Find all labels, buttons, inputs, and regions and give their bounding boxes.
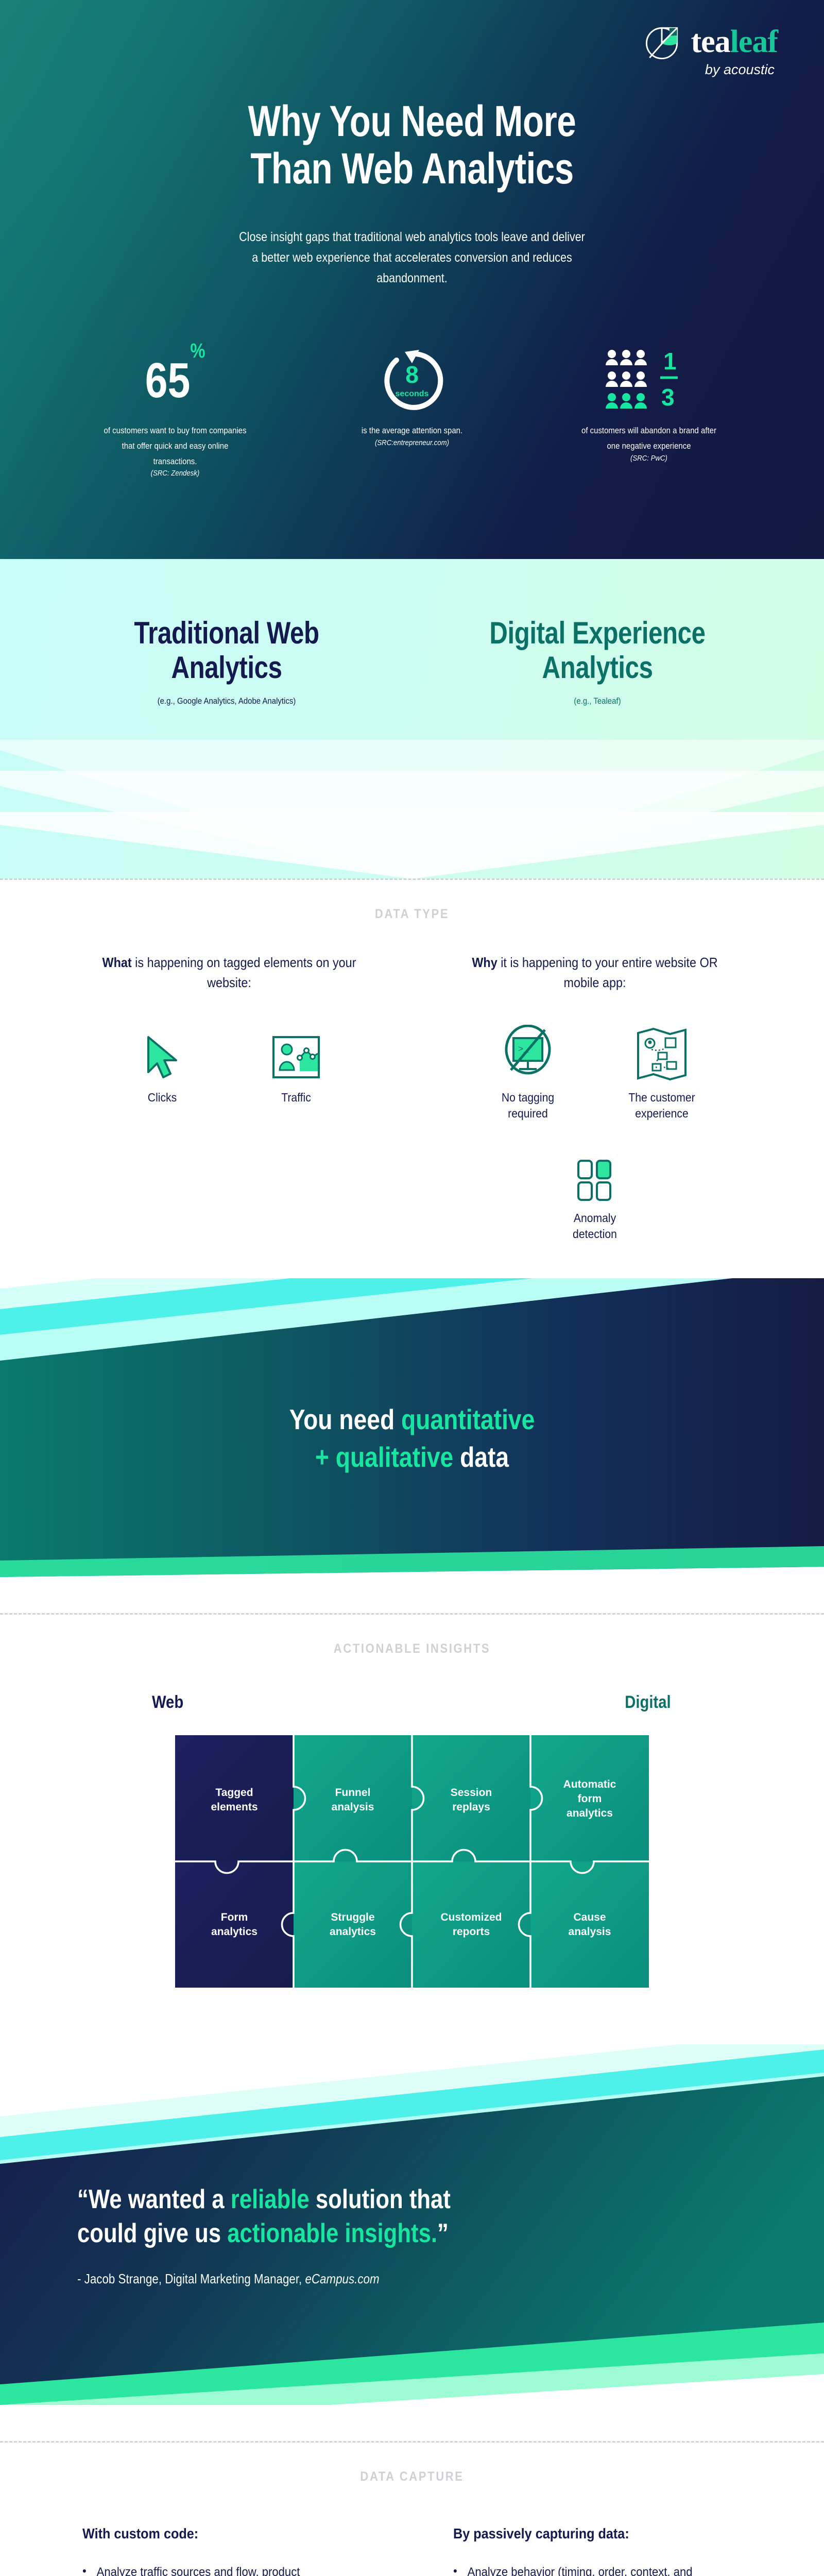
data-type-item-label: No tagging required	[488, 1090, 568, 1122]
stat-caption: of customers will abandon a brand after …	[574, 423, 724, 454]
comparison-section: Traditional Web Analytics (e.g., Google …	[0, 559, 824, 878]
stat-source: (SRC:entrepreneur.com)	[337, 438, 487, 447]
quote-part-c: could give us	[77, 2218, 227, 2248]
data-type-why-bold: Why	[472, 955, 497, 970]
puzzle-piece-label: Session	[451, 1787, 492, 1799]
data-type-item: Anomaly detection	[551, 1145, 639, 1242]
stat-unit: %	[190, 340, 205, 362]
puzzle-piece-label: Funnel	[335, 1787, 371, 1799]
quant-line-2: + qualitative data	[66, 1438, 758, 1476]
quote-part-b: solution that	[310, 2184, 451, 2214]
data-type-item: Traffic	[252, 1025, 340, 1106]
digital-title: Digital Experience Analytics	[479, 616, 715, 685]
logo-tagline: by acoustic	[705, 62, 775, 78]
puzzle-piece-label: Struggle	[331, 1911, 374, 1923]
stat-value: 65	[145, 353, 191, 408]
insights-digital-label: Digital	[625, 1692, 671, 1713]
data-type-item: >_ No tagging required	[484, 1025, 572, 1122]
insights-label: ACTIONABLE INSIGHTS	[49, 1615, 775, 1656]
data-capture-column-passive: By passively capturing data: Analyze beh…	[453, 2526, 742, 2576]
hero-title-line-1: Why You Need More	[82, 98, 742, 145]
data-capture-left-heading: With custom code:	[82, 2526, 342, 2542]
data-capture-section: DATA CAPTURE With custom code: Analyze t…	[0, 2405, 824, 2576]
stat-source: (SRC: PwC)	[574, 454, 724, 463]
page-title: Why You Need More Than Web Analytics	[82, 98, 742, 192]
hero-subtitle: Close insight gaps that traditional web …	[235, 227, 589, 289]
quote-part-a: “We wanted a	[77, 2184, 231, 2214]
anomaly-grid-icon	[576, 1159, 613, 1202]
percentage-stat-icon: 65%	[90, 343, 260, 419]
customer-journey-map-icon	[636, 1028, 688, 1081]
tealeaf-logo[interactable]: tealeaf by acoustic	[644, 23, 778, 78]
stat-card: 1 3 of customers will abandon a brand af…	[564, 343, 734, 463]
data-type-what-bold: What	[102, 955, 131, 970]
quote-accent-2: actionable insights.	[227, 2218, 437, 2248]
svg-text:1: 1	[663, 348, 677, 375]
quant-accent-1: quantitative	[401, 1403, 535, 1435]
svg-text:analysis: analysis	[332, 1801, 374, 1813]
testimonial-band: “We wanted a reliable solution that coul…	[0, 2044, 824, 2405]
quote-attr-italic: eCampus.com	[305, 2271, 379, 2286]
quote-part-d: ”	[437, 2218, 449, 2248]
logo-word-tea: tea	[691, 24, 730, 59]
quant-accent-2: + qualitative	[315, 1441, 453, 1473]
data-type-why-heading: Why it is happening to your entire websi…	[456, 953, 734, 993]
hero-stats: 65% of customers want to buy from compan…	[0, 343, 824, 478]
svg-text:replays: replays	[452, 1801, 490, 1813]
svg-text:reports: reports	[453, 1926, 490, 1938]
insights-puzzle: Tagged elements Funnel analysis Session …	[0, 1713, 824, 1988]
puzzle-piece-label: Customized	[440, 1911, 502, 1923]
stat-source: (SRC: Zendesk)	[100, 469, 250, 478]
traditional-title: Traditional Web Analytics	[108, 616, 345, 685]
quote-accent-1: reliable	[231, 2184, 310, 2214]
puzzle-piece-label: Form	[221, 1911, 248, 1923]
list-item: Analyze traffic sources and flow, produc…	[82, 2564, 348, 2576]
quote-attr-plain: - Jacob Strange, Digital Marketing Manag…	[77, 2271, 305, 2286]
stat-card: 8 seconds is the average attention span.…	[327, 343, 497, 447]
data-type-section: DATA TYPE What is happening on tagged el…	[0, 878, 824, 1278]
data-type-item-label: Traffic	[256, 1090, 336, 1106]
data-capture-right-heading: By passively capturing data:	[453, 2526, 713, 2542]
quant-line-1: You need quantitative	[66, 1401, 758, 1438]
quote-attribution: - Jacob Strange, Digital Marketing Manag…	[77, 2271, 653, 2287]
puzzle-piece-label: Tagged	[215, 1787, 253, 1799]
no-tagging-icon: >_	[500, 1025, 556, 1081]
infographic-page: tealeaf by acoustic Why You Need More Th…	[0, 0, 824, 2576]
svg-text:analytics: analytics	[211, 1926, 257, 1938]
tealeaf-wordmark: tealeaf	[691, 26, 778, 58]
data-type-label: DATA TYPE	[49, 880, 775, 922]
stat-caption: is the average attention span.	[337, 423, 487, 438]
data-type-item-label: Anomaly detection	[555, 1210, 635, 1242]
clock-arrow-icon: 8 seconds	[376, 345, 448, 417]
digital-examples: (e.g., Tealeaf)	[471, 696, 725, 706]
data-type-what-heading: What is happening on tagged elements on …	[90, 953, 368, 993]
svg-text:analytics: analytics	[330, 1926, 376, 1938]
comparison-column-digital: Digital Experience Analytics (e.g., Teal…	[453, 616, 742, 706]
traffic-chart-icon	[271, 1034, 321, 1081]
insights-web-label: Web	[152, 1692, 183, 1713]
comparison-column-traditional: Traditional Web Analytics (e.g., Google …	[82, 616, 371, 706]
quantitative-qualitative-band: You need quantitative + qualitative data	[0, 1278, 824, 1577]
data-type-what-rest: is happening on tagged elements on your …	[132, 955, 356, 990]
people-ratio-icon: 1 3	[603, 348, 695, 414]
testimonial-text: “We wanted a reliable solution that coul…	[0, 2044, 824, 2287]
hero-section: tealeaf by acoustic Why You Need More Th…	[0, 0, 824, 559]
traditional-examples: (e.g., Google Analytics, Adobe Analytics…	[100, 696, 354, 706]
quant-plain-2: data	[453, 1441, 509, 1473]
data-type-column-what: What is happening on tagged elements on …	[75, 953, 384, 1242]
actionable-insights-section: ACTIONABLE INSIGHTS Web Digital	[0, 1577, 824, 2044]
stat-card: 65% of customers want to buy from compan…	[90, 343, 260, 478]
quote-line-1: “We wanted a reliable solution that	[77, 2182, 640, 2216]
data-type-item-label: The customer experience	[622, 1090, 702, 1122]
puzzle-grid: Tagged elements Funnel analysis Session …	[175, 1735, 649, 1988]
puzzle-piece-label: Cause	[573, 1911, 606, 1923]
tealeaf-leaf-icon	[644, 23, 682, 61]
svg-text:seconds: seconds	[396, 389, 429, 398]
svg-text:elements: elements	[211, 1801, 257, 1813]
data-capture-label: DATA CAPTURE	[49, 2443, 775, 2484]
data-type-item-label: Clicks	[122, 1090, 202, 1106]
svg-text:form: form	[578, 1793, 602, 1805]
svg-text:analysis: analysis	[569, 1926, 611, 1938]
stat-caption: of customers want to buy from companies …	[100, 423, 250, 469]
list-item: Analyze behavior (timing, order, context…	[453, 2564, 718, 2576]
svg-text:3: 3	[661, 384, 675, 411]
data-type-item: Clicks	[118, 1025, 206, 1106]
quote-line-2: could give us actionable insights.”	[77, 2216, 640, 2250]
puzzle-piece-label: Automatic	[563, 1778, 616, 1790]
svg-text:analytics: analytics	[566, 1807, 613, 1819]
cursor-arrow-icon	[141, 1034, 183, 1081]
logo-word-leaf: leaf	[730, 24, 778, 59]
data-type-column-why: Why it is happening to your entire websi…	[440, 953, 749, 1242]
data-capture-column-custom-code: With custom code: Analyze traffic source…	[82, 2526, 371, 2576]
quant-band-text: You need quantitative + qualitative data	[0, 1278, 824, 1476]
hero-title-line-2: Than Web Analytics	[82, 145, 742, 193]
wedge-transition-down	[0, 740, 824, 878]
svg-text:8: 8	[405, 361, 419, 388]
quant-plain-1: You need	[289, 1403, 401, 1435]
data-type-item: The customer experience	[618, 1025, 706, 1122]
data-type-why-rest: it is happening to your entire website O…	[497, 955, 718, 990]
